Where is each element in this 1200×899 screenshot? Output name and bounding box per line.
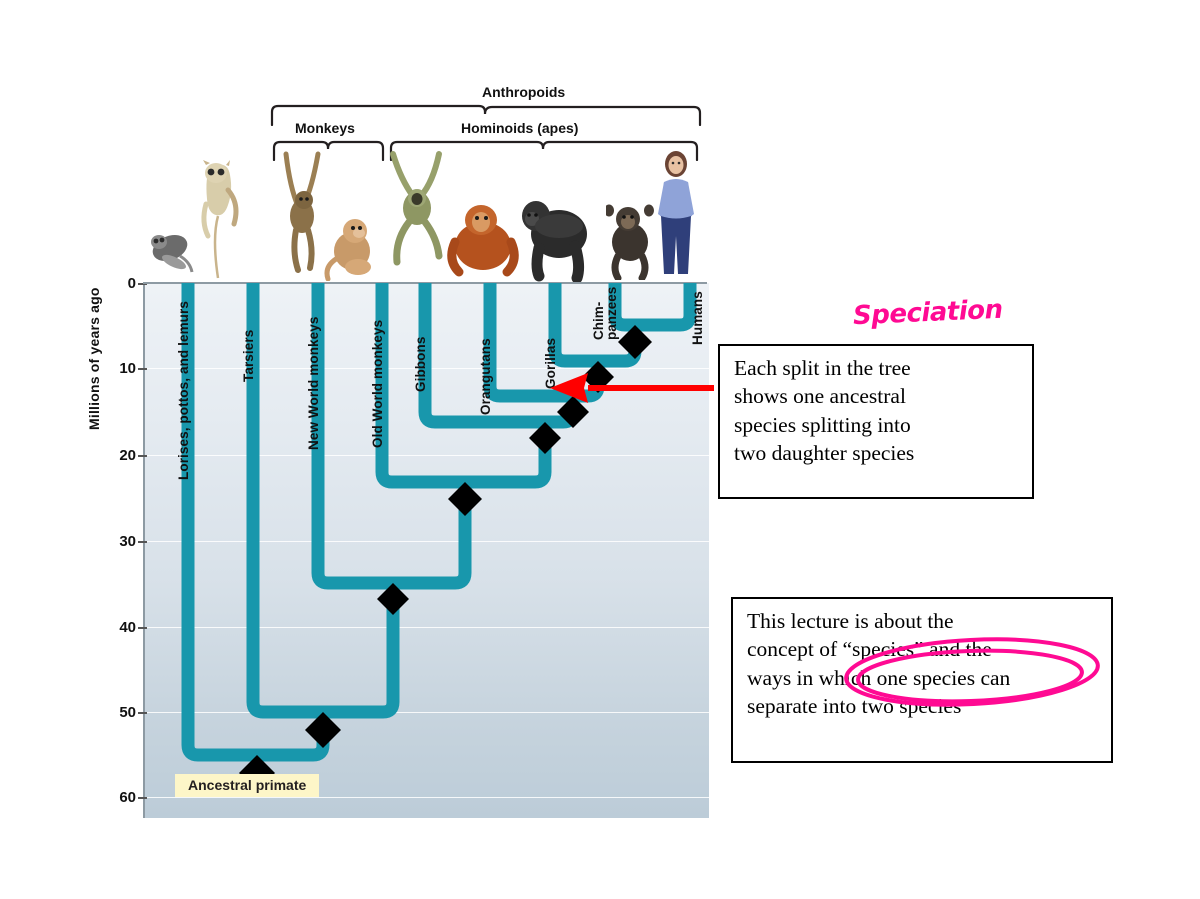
tip-label-new-world-monkeys: New World monkeys [306,317,321,450]
bracket-hominoids-label: Hominoids (apes) [461,120,578,136]
bracket-monkeys-label: Monkeys [295,120,355,136]
human-illustration [652,148,700,285]
tarsier-illustration [198,160,242,291]
tip-label-gibbons: Gibbons [413,337,428,392]
tip-label-humans: Humans [690,291,705,345]
orangutan-illustration [445,198,523,287]
gibbon-illustration [383,150,453,277]
bracket-anthropoids-label: Anthropoids [482,84,565,100]
primate-phylogeny-figure: Millions of years ago 0 10 20 30 40 50 6… [0,0,720,830]
gorilla-illustration [519,186,595,287]
y-tick-30: 30 [96,533,136,550]
tip-label-lorises: Lorises, pottos, and lemurs [176,301,191,480]
callout-speciation-line-2: shows one ancestral [734,382,1020,410]
new-world-monkey-illustration [272,150,328,285]
y-tick-20: 20 [96,447,136,464]
tip-label-orangutans: Orangutans [478,338,493,415]
tip-label-chimpanzees-text: Chim- panzees [591,287,619,340]
tip-label-tarsiers: Tarsiers [241,330,256,382]
handwritten-speciation-annotation: Speciation [852,295,1003,331]
callout-speciation-line-4: two daughter species [734,439,1020,467]
tip-label-chimpanzees: Chim- panzees [592,287,618,340]
ancestral-primate-label: Ancestral primate [175,774,319,797]
y-tick-50: 50 [96,704,136,721]
callout-lecture-line-1: This lecture is about the [747,607,1099,635]
red-arrow-annotation [548,372,716,409]
y-tick-0: 0 [96,275,136,292]
old-world-monkey-illustration [322,215,384,286]
pink-circle-highlight [838,634,1106,717]
callout-speciation: Each split in the tree shows one ancestr… [718,344,1034,499]
y-axis-title: Millions of years ago [86,287,102,430]
callout-speciation-line-3: species splitting into [734,411,1020,439]
y-tick-10: 10 [96,360,136,377]
loris-illustration [148,226,194,285]
y-tick-60: 60 [96,789,136,806]
callout-speciation-line-1: Each split in the tree [734,354,1020,382]
y-tick-40: 40 [96,619,136,636]
chimpanzee-illustration [606,202,658,285]
tip-label-old-world-monkeys: Old World monkeys [370,320,385,448]
